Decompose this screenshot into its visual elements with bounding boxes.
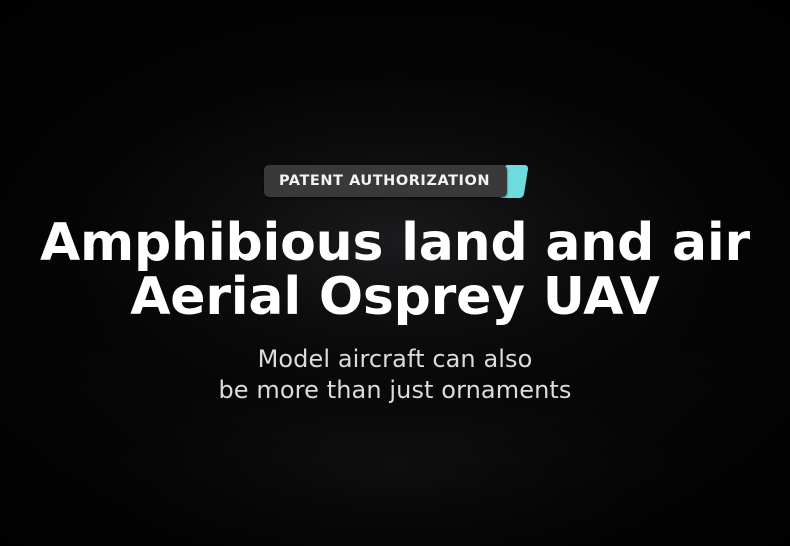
- page-subtitle: Model aircraft can also be more than jus…: [0, 344, 790, 406]
- badge-label: PATENT AUTHORIZATION: [279, 174, 490, 189]
- badge-plate: PATENT AUTHORIZATION: [264, 165, 507, 197]
- page-title: Amphibious land and air Aerial Osprey UA…: [0, 216, 790, 324]
- page-title-line-1: Amphibious land and air: [40, 216, 750, 270]
- promo-banner: PATENT AUTHORIZATION Amphibious land and…: [0, 0, 790, 546]
- patent-badge: PATENT AUTHORIZATION: [0, 164, 790, 198]
- page-subtitle-line-1: Model aircraft can also: [0, 344, 790, 375]
- page-subtitle-line-2: be more than just ornaments: [0, 375, 790, 406]
- badge-row: PATENT AUTHORIZATION: [264, 164, 526, 198]
- page-title-line-2: Aerial Osprey UAV: [40, 270, 750, 324]
- banner-content: PATENT AUTHORIZATION Amphibious land and…: [0, 0, 790, 546]
